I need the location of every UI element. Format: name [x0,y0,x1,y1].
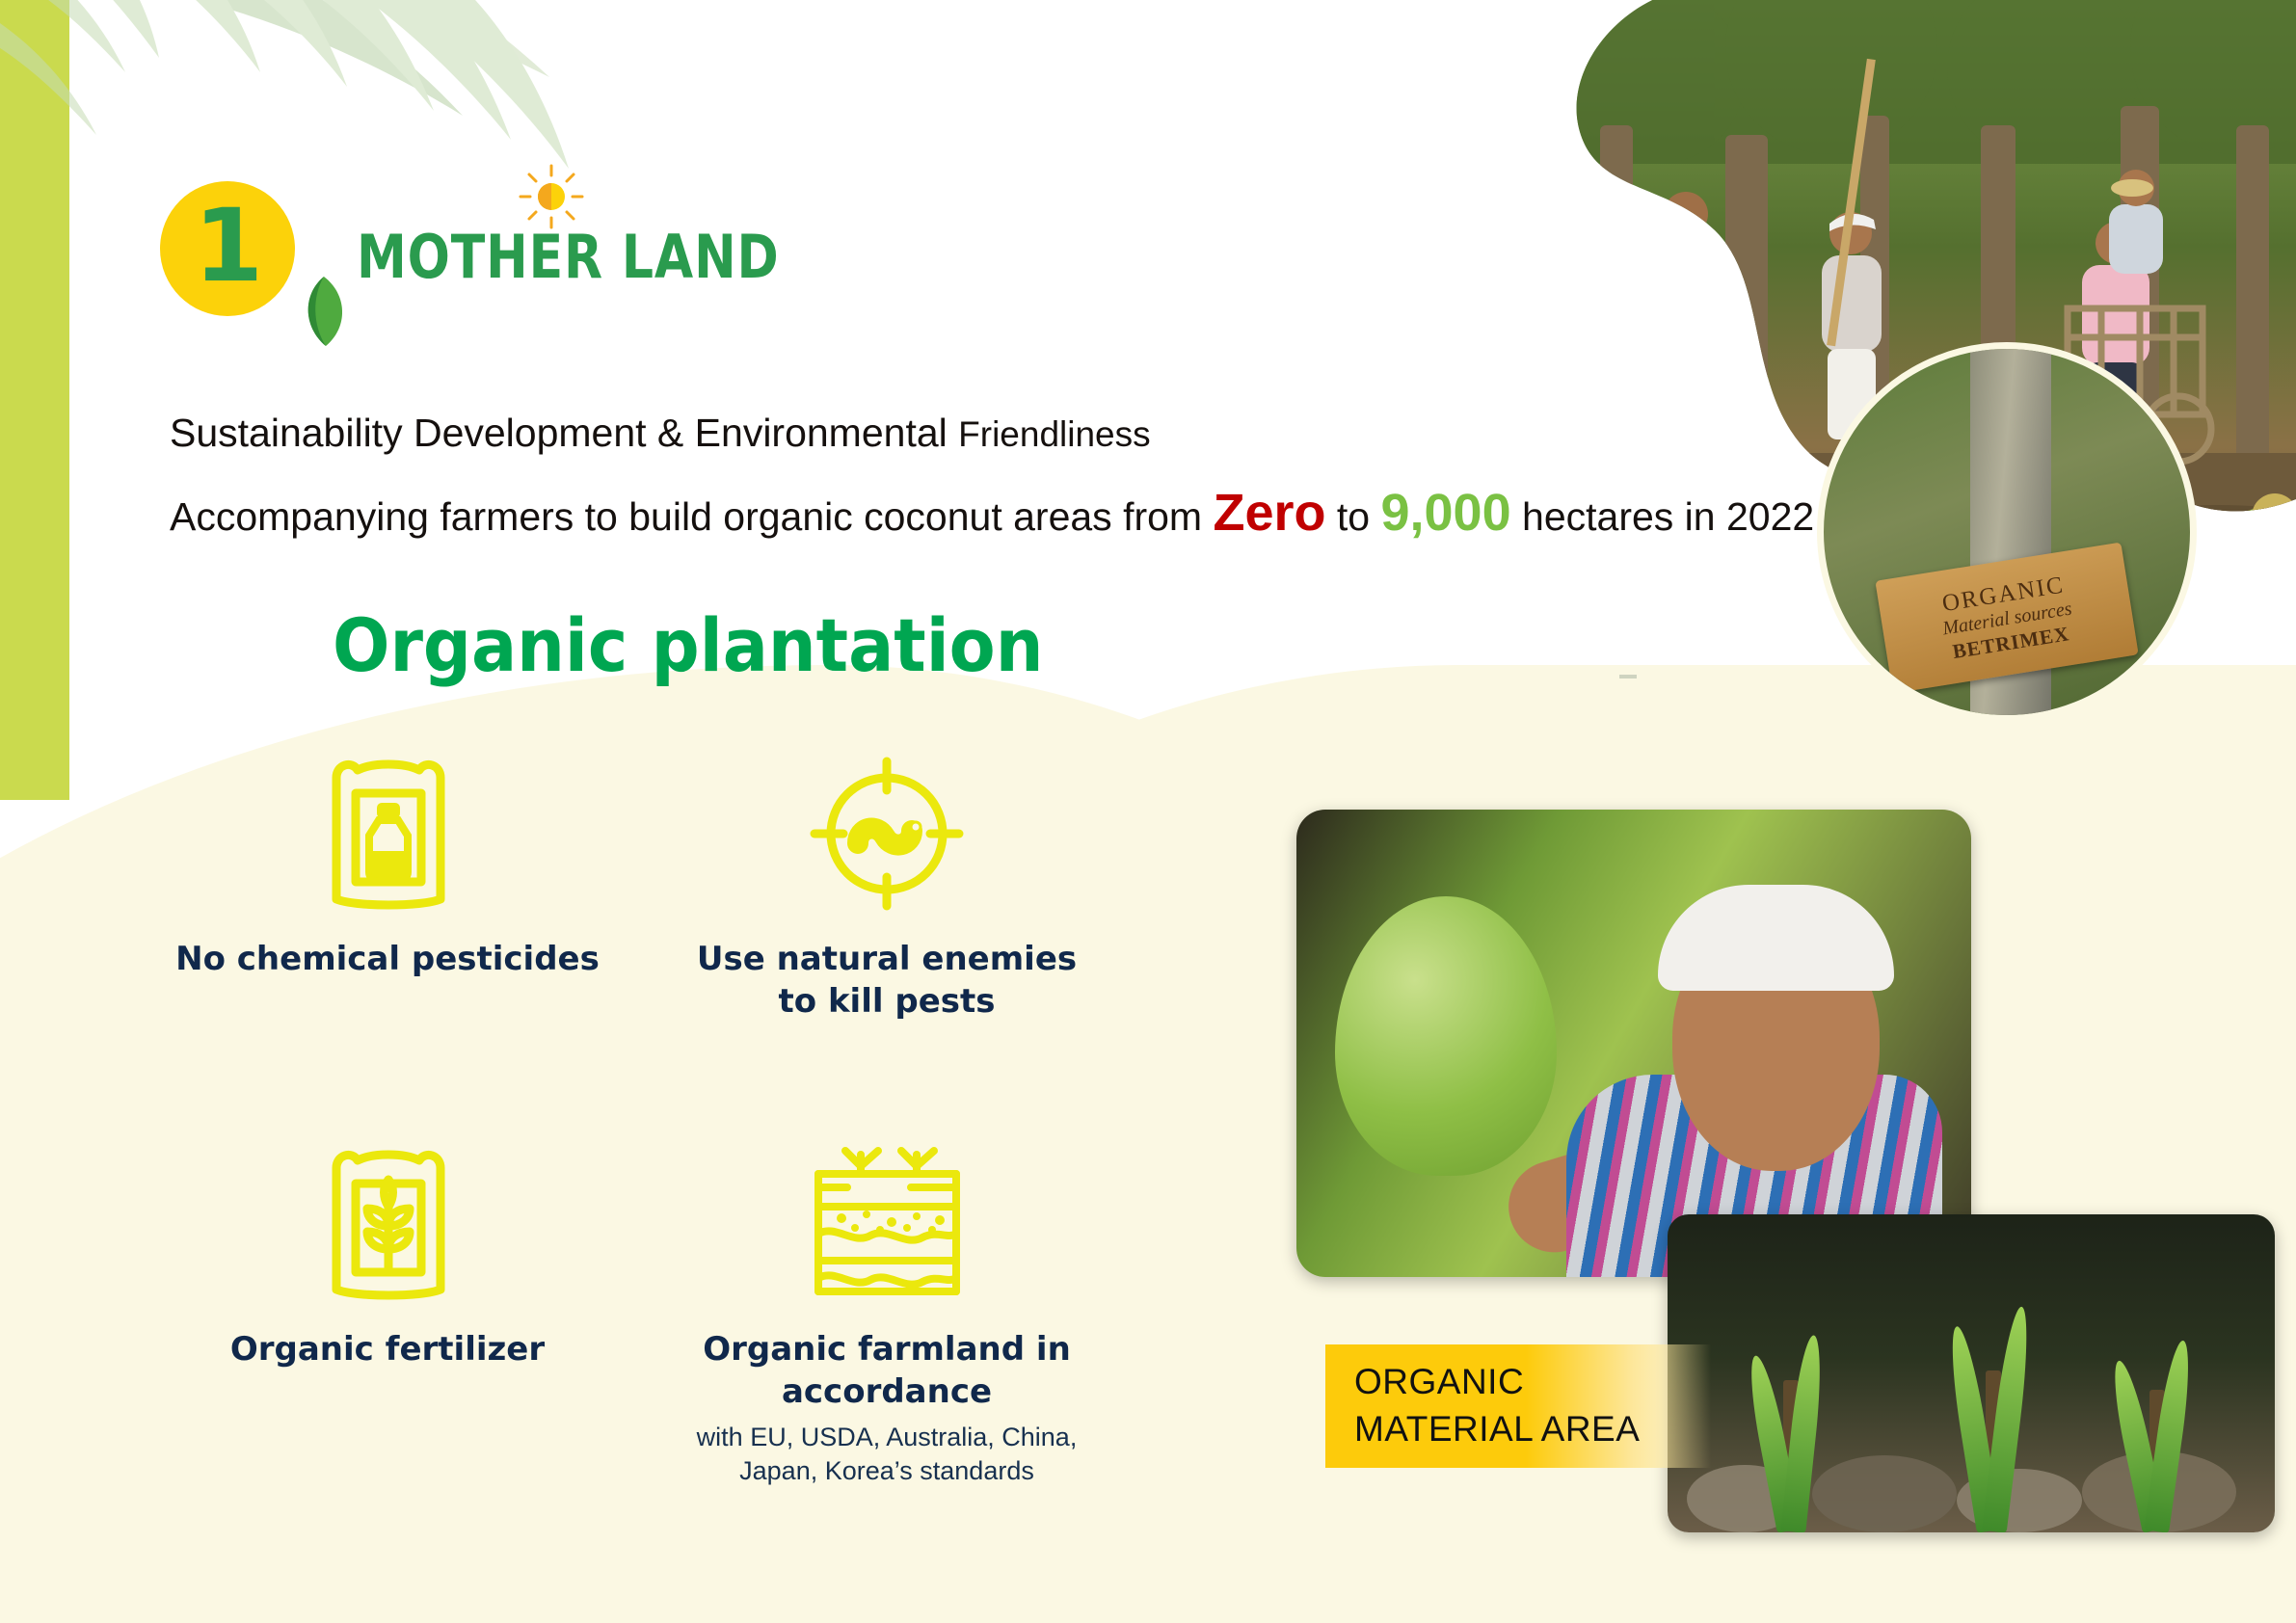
pest-target-icon [808,752,967,916]
feature-sublabel: with EU, USDA, Australia, China, Japan, … [675,1421,1099,1488]
farmer-cap [1658,885,1894,991]
feature-label: Organic farmland in accordance [675,1329,1099,1413]
feature-organic-fertilizer: Organic fertilizer [175,1132,600,1371]
icon-wrap [675,1132,1099,1306]
stone [1812,1455,1957,1532]
fertilizer-sack-icon [315,1137,460,1306]
slide-root: 1 MOTHER LAND Sustainability Development… [0,0,2296,1623]
lead-zero-value: Zero [1213,484,1325,542]
organic-material-sign-photo: ORGANIC Material sources BETRIMEX [1817,342,2197,722]
lead-line1-a: Sustainability Development & Environment… [170,411,958,455]
pesticide-sack-icon [315,747,460,916]
feature-label: No chemical pesticides [175,939,600,981]
lead-line2-a: Accompanying farmers to build organic co… [170,494,1213,539]
lead-line1-b: Friendliness [958,414,1150,454]
smiling-farmer-photo [1296,810,1971,1277]
section-number-badge: 1 [160,181,295,316]
section-title: Organic plantation [333,602,1043,688]
banner-line-2: MATERIAL AREA [1354,1406,1711,1453]
brand-title: MOTHER LAND [357,222,780,292]
coconut-seedlings-photo [1668,1214,2275,1532]
feature-organic-farmland: Organic farmland in accordance with EU, … [675,1132,1099,1488]
feature-natural-enemies: Use natural enemies to kill pests [675,742,1099,1023]
organic-material-area-banner: ORGANIC MATERIAL AREA [1325,1344,1711,1468]
feature-label: Organic fertilizer [175,1329,600,1371]
feature-label: Use natural enemies to kill pests [675,939,1099,1023]
icon-wrap [175,742,600,916]
section-number: 1 [194,196,261,296]
organic-material-sign: ORGANIC Material sources BETRIMEX [1875,543,2139,694]
leaf-icon [297,275,351,348]
green-coconut [1335,896,1557,1176]
soil-layers-icon [803,1137,972,1306]
icon-wrap [675,742,1099,916]
decorative-dash [1619,675,1637,678]
icon-wrap [175,1132,600,1306]
lead-target-hectares: 9,000 [1380,484,1510,542]
lead-line2-b: to [1326,494,1381,539]
feature-no-chemical-pesticides: No chemical pesticides [175,742,600,981]
banner-line-1: ORGANIC [1354,1359,1711,1406]
